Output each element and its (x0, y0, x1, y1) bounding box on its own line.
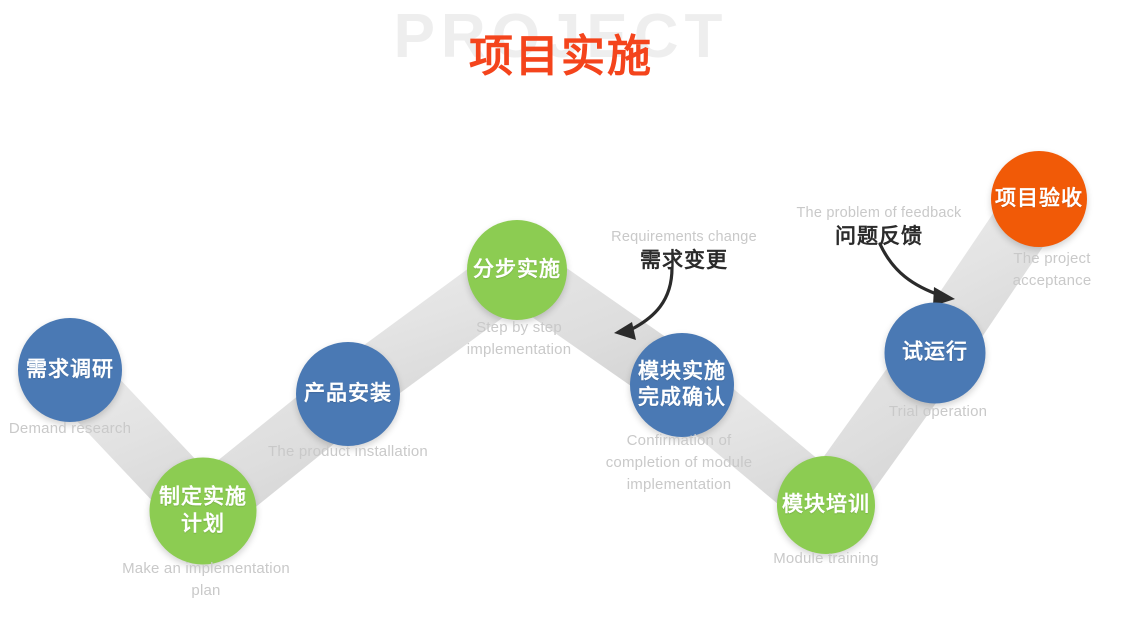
annotation-en-text: The problem of feedback (797, 204, 962, 223)
annotation-en-text: Requirements change (611, 228, 757, 247)
problem-feedback-arrow (880, 244, 955, 306)
node-label: 模块实施 完成确认 (638, 359, 726, 412)
annotation-cn-text: 问题反馈 (797, 223, 962, 251)
node-label: 制定实施 计划 (159, 485, 247, 538)
node-label: 项目验收 (995, 186, 1083, 212)
node-demand-research[interactable]: 需求调研 (18, 318, 122, 422)
node-module-training[interactable]: 模块培训 (777, 456, 875, 554)
slide-canvas: PROJECT 项目实施 需求调研De (0, 0, 1122, 617)
node-product-installation[interactable]: 产品安装 (296, 342, 400, 446)
node-caption-implementation-plan: Make an implementation plan (122, 558, 290, 602)
node-label: 产品安装 (304, 381, 392, 407)
node-caption-module-confirmation: Confirmation of completion of module imp… (606, 430, 753, 495)
node-caption-module-training: Module training (773, 548, 879, 570)
node-trial-operation[interactable]: 试运行 (885, 303, 986, 404)
node-label: 需求调研 (26, 357, 114, 383)
node-project-acceptance[interactable]: 项目验收 (991, 151, 1087, 247)
node-caption-trial-operation: Trial operation (889, 401, 987, 423)
annotation-cn-text: 需求变更 (611, 247, 757, 275)
node-caption-step-by-step-implementation: Step by step implementation (467, 317, 572, 361)
annotation-problem-feedback: The problem of feedback问题反馈 (797, 204, 962, 251)
node-label: 模块培训 (782, 492, 870, 518)
node-caption-project-acceptance: The project acceptance (1013, 248, 1092, 292)
node-step-by-step-implementation[interactable]: 分步实施 (467, 220, 567, 320)
node-caption-product-installation: The product installation (268, 441, 428, 463)
node-implementation-plan[interactable]: 制定实施 计划 (150, 458, 257, 565)
node-caption-demand-research: Demand research (9, 418, 131, 440)
annotation-requirements-change: Requirements change需求变更 (611, 228, 757, 275)
node-label: 试运行 (902, 340, 968, 366)
node-module-confirmation[interactable]: 模块实施 完成确认 (630, 333, 734, 437)
node-label: 分步实施 (473, 257, 561, 283)
